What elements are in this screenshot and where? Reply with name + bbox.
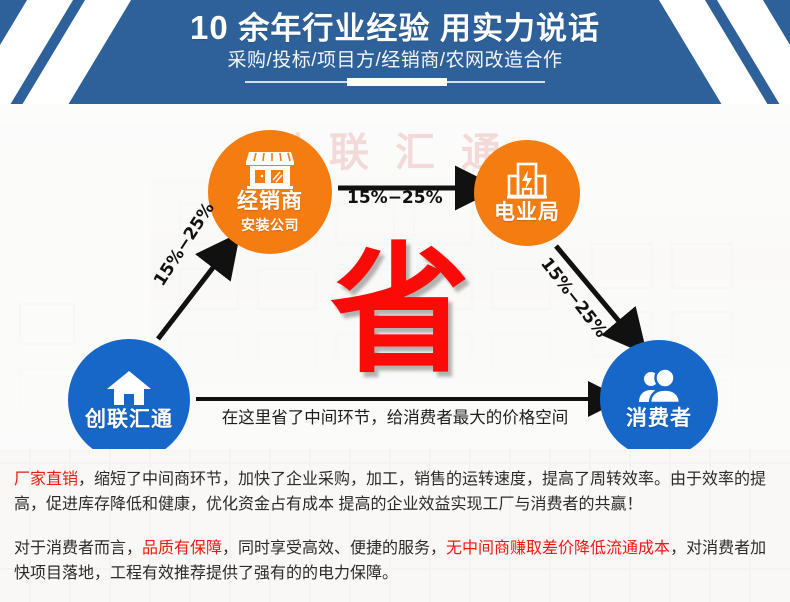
flow-diagram: 创联汇通 省 15%−25% 15%−25% 15%−25% 在这里省了中间环节… xyxy=(0,104,790,449)
node-dealer-title: 经销商 xyxy=(237,191,303,213)
big-save-character: 省 xyxy=(330,242,470,382)
power-building-icon xyxy=(506,162,548,200)
banner-subline: 采购/投标/项目方/经销商/农网改造合作 xyxy=(0,51,790,72)
banner-headline-text: 余年行业经验 用实力说话 xyxy=(238,11,600,46)
paragraph-2-lead: 对于消费者而言， xyxy=(14,540,142,557)
paragraph-2-mid: ，同时享受高效、便捷的服务， xyxy=(222,540,446,557)
node-dealer[interactable]: 经销商 安装公司 xyxy=(208,130,332,254)
paragraph-1-text: ，缩短了中间商环节，加快了企业采购，加工，销售的运转速度，提高了周转效率。由于效… xyxy=(14,471,766,513)
banner-headline-number: 10 xyxy=(190,9,229,46)
banner-content: 10 余年行业经验 用实力说话 采购/投标/项目方/经销商/农网改造合作 xyxy=(0,0,790,104)
description-section: 厂家直销，缩短了中间商环节，加快了企业采购，加工，销售的运转速度，提高了周转效率… xyxy=(0,449,790,602)
description-paragraph-2: 对于消费者而言，品质有保障，同时享受高效、便捷的服务，无中间商赚取差价降低流通成… xyxy=(14,517,776,586)
description-paragraph-1: 厂家直销，缩短了中间商环节，加快了企业采购，加工，销售的运转速度，提高了周转效率… xyxy=(14,449,776,517)
paragraph-2-highlight-1: 品质有保障 xyxy=(142,540,222,557)
arrow-label-company-to-consumer: 在这里省了中间环节，给消费者最大的价格空间 xyxy=(0,404,790,428)
paragraph-1-highlight: 厂家直销 xyxy=(14,471,78,488)
node-bureau-title: 电业局 xyxy=(494,202,560,224)
node-consumer[interactable]: 消费者 xyxy=(600,340,718,449)
users-icon xyxy=(635,368,683,406)
node-company[interactable]: 创联汇通 xyxy=(68,339,190,449)
home-icon xyxy=(106,369,152,407)
banner-divider xyxy=(245,78,545,86)
banner-headline: 10 余年行业经验 用实力说话 xyxy=(0,10,790,46)
store-icon xyxy=(245,149,295,189)
arrow-label-dealer-to-bureau: 15%−25% xyxy=(347,188,443,208)
banner-divider-thick xyxy=(347,78,447,86)
node-bureau[interactable]: 电业局 xyxy=(474,140,580,246)
header-banner: 10 余年行业经验 用实力说话 采购/投标/项目方/经销商/农网改造合作 xyxy=(0,0,790,104)
promo-infographic: 10 余年行业经验 用实力说话 采购/投标/项目方/经销商/农网改造合作 xyxy=(0,0,790,602)
node-dealer-subtitle: 安装公司 xyxy=(241,215,299,235)
paragraph-2-highlight-2: 无中间商赚取差价降低流通成本 xyxy=(446,540,670,557)
